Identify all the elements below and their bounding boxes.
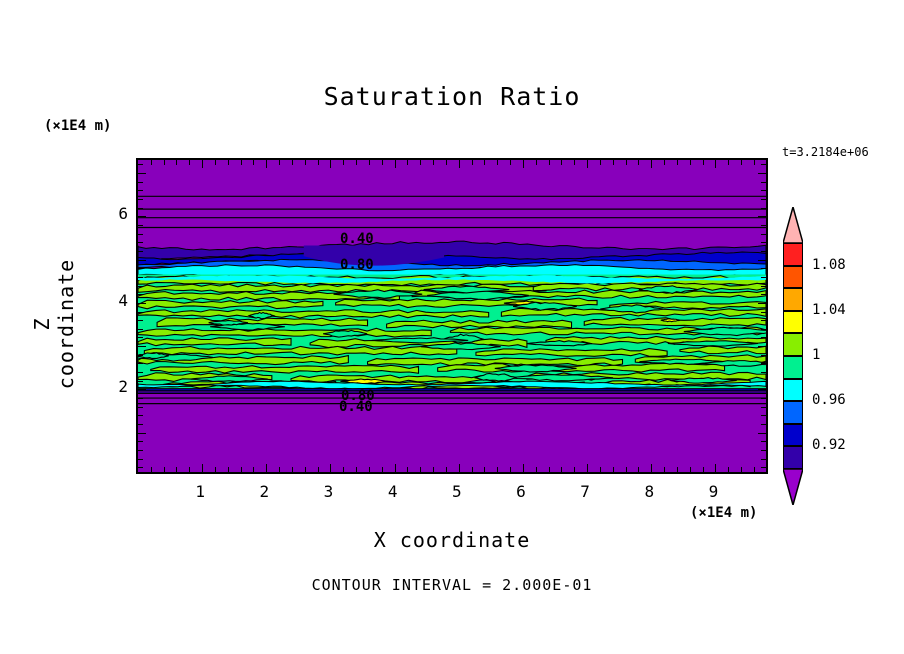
contour-line-label: 0.40 [340,231,374,247]
x-tick-mark [703,467,704,473]
x-tick-mark [523,159,524,168]
y-tick-mark [758,173,767,174]
y-tick-mark [761,467,767,468]
y-tick-mark [137,216,146,217]
contour-line-label: 0.40 [339,399,373,415]
x-tick-mark [176,467,177,473]
colorbar-band[interactable] [783,379,803,402]
x-tick-mark [754,159,755,165]
y-tick-mark [758,260,767,261]
colorbar-band[interactable] [783,311,803,334]
x-tick-mark [164,467,165,473]
x-tick-mark [215,159,216,165]
y-tick-mark [761,381,767,382]
y-tick-mark [137,208,143,209]
y-tick-mark [137,346,146,347]
x-tick-mark [664,467,665,473]
y-tick-mark [758,389,767,390]
x-tick-mark [536,467,537,473]
x-tick-mark [690,467,691,473]
y-tick-mark [761,294,767,295]
x-tick-mark [356,467,357,473]
x-tick-mark [266,464,267,473]
y-tick-mark [137,199,143,200]
x-tick-mark [420,467,421,473]
y-tick-mark [137,164,143,165]
x-tick-mark [677,159,678,165]
x-tick-mark [587,159,588,168]
x-tick-label: 2 [244,482,284,501]
x-tick-mark [318,467,319,473]
x-tick-mark [626,159,627,165]
x-tick-mark [741,159,742,165]
colorbar-tick-label: 0.92 [812,437,846,453]
x-axis-unit-label: (×1E4 m) [690,505,757,521]
y-tick-mark [137,268,143,269]
y-tick-mark [137,320,143,321]
x-tick-mark [343,467,344,473]
y-tick-mark [137,424,143,425]
x-tick-mark [484,467,485,473]
x-tick-mark [754,467,755,473]
x-tick-mark [690,159,691,165]
y-tick-mark [137,467,143,468]
y-tick-mark [761,337,767,338]
y-tick-mark [761,208,767,209]
y-tick-mark [761,329,767,330]
x-tick-mark [292,467,293,473]
y-tick-mark [137,372,143,373]
x-tick-mark [407,159,408,165]
y-tick-mark [761,372,767,373]
x-tick-mark [407,467,408,473]
y-tick-mark [761,199,767,200]
y-tick-mark [137,242,143,243]
x-tick-mark [189,159,190,165]
x-tick-mark [728,467,729,473]
y-tick-mark [761,355,767,356]
x-tick-mark [600,467,601,473]
x-tick-mark [510,467,511,473]
x-tick-mark [638,159,639,165]
x-tick-mark [330,464,331,473]
x-tick-mark [189,467,190,473]
x-tick-mark [472,467,473,473]
x-tick-mark [343,159,344,165]
y-tick-mark [137,234,143,235]
x-tick-mark [151,467,152,473]
colorbar-band[interactable] [783,288,803,311]
x-tick-mark [549,159,550,165]
y-tick-mark [758,303,767,304]
y-tick-mark [137,303,146,304]
x-tick-mark [613,159,614,165]
x-tick-mark [356,159,357,165]
x-tick-mark [228,467,229,473]
colorbar-top-arrow [783,207,803,243]
y-tick-mark [137,450,143,451]
contour-line-label: 0.80 [340,257,374,273]
y-tick-mark [758,433,767,434]
y-tick-mark [137,407,143,408]
x-tick-mark [395,464,396,473]
x-tick-mark [420,159,421,165]
y-tick-label: 6 [88,204,128,223]
x-tick-mark [266,159,267,168]
y-tick-mark [137,381,143,382]
x-tick-mark [446,159,447,165]
x-tick-mark [767,467,768,473]
y-tick-mark [137,225,143,226]
y-tick-mark [761,164,767,165]
y-tick-mark [761,312,767,313]
y-tick-mark [761,234,767,235]
x-tick-mark [253,159,254,165]
x-tick-mark [395,159,396,168]
x-tick-mark [305,467,306,473]
x-tick-mark [151,159,152,165]
y-tick-mark [137,355,143,356]
x-tick-label: 8 [629,482,669,501]
x-axis-label: X coordinate [136,528,768,552]
colorbar-band[interactable] [783,333,803,356]
y-tick-mark [761,242,767,243]
y-tick-mark [137,294,143,295]
x-tick-mark [202,159,203,168]
y-tick-mark [137,459,143,460]
y-tick-mark [761,415,767,416]
x-tick-mark [369,467,370,473]
y-tick-mark [761,182,767,183]
x-tick-mark [741,467,742,473]
x-tick-mark [561,159,562,165]
x-tick-mark [459,159,460,168]
y-tick-mark [761,251,767,252]
x-tick-mark [279,159,280,165]
x-tick-mark [510,159,511,165]
timestamp-annotation: t=3.2184e+06 [782,145,869,159]
y-tick-mark [137,190,143,191]
y-axis-unit-label: (×1E4 m) [44,118,111,134]
y-tick-mark [758,346,767,347]
y-tick-mark [761,363,767,364]
x-tick-mark [241,159,242,165]
x-tick-mark [382,467,383,473]
colorbar-tick-label: 1.08 [812,257,846,273]
colorbar-band[interactable] [783,356,803,379]
y-tick-label: 4 [88,291,128,310]
y-tick-mark [137,329,143,330]
y-tick-mark [137,398,143,399]
x-tick-label: 3 [308,482,348,501]
y-tick-mark [137,415,143,416]
x-tick-mark [433,467,434,473]
x-tick-mark [626,467,627,473]
contour-interval-caption: CONTOUR INTERVAL = 2.000E-01 [0,576,904,594]
x-tick-mark [330,159,331,168]
y-tick-mark [761,277,767,278]
x-tick-mark [446,467,447,473]
y-tick-mark [137,433,146,434]
y-tick-mark [758,216,767,217]
y-axis-label: Z coordinate [30,254,78,394]
x-tick-mark [176,159,177,165]
x-tick-mark [677,467,678,473]
y-tick-mark [137,277,143,278]
colorbar-band[interactable] [783,446,803,469]
x-tick-mark [459,464,460,473]
y-tick-mark [761,320,767,321]
y-tick-mark [761,398,767,399]
y-tick-mark [761,407,767,408]
x-tick-mark [728,159,729,165]
y-tick-mark [137,182,143,183]
x-tick-label: 7 [565,482,605,501]
x-tick-label: 5 [437,482,477,501]
x-tick-mark [292,159,293,165]
y-tick-mark [761,441,767,442]
x-tick-mark [523,464,524,473]
y-tick-mark [761,190,767,191]
x-tick-mark [497,159,498,165]
x-tick-mark [651,464,652,473]
x-tick-mark [164,159,165,165]
x-tick-mark [549,467,550,473]
x-tick-mark [561,467,562,473]
x-tick-label: 4 [373,482,413,501]
y-tick-mark [761,459,767,460]
colorbar-tick-label: 0.96 [812,392,846,408]
x-tick-mark [767,159,768,165]
x-tick-mark [305,159,306,165]
colorbar-band[interactable] [783,401,803,424]
colorbar-band[interactable] [783,424,803,447]
x-tick-mark [600,159,601,165]
y-tick-mark [137,286,143,287]
x-tick-mark [587,464,588,473]
colorbar-bottom-arrow [783,469,803,505]
x-tick-mark [241,467,242,473]
page-title: Saturation Ratio [0,82,904,111]
x-tick-label: 9 [693,482,733,501]
y-tick-mark [137,260,146,261]
y-tick-mark [761,225,767,226]
colorbar-tick-label: 1 [812,347,820,363]
x-tick-mark [613,467,614,473]
contour-plot[interactable] [136,158,768,474]
x-tick-mark [497,467,498,473]
contour-field [138,160,766,472]
x-tick-mark [638,467,639,473]
x-tick-mark [369,159,370,165]
x-tick-mark [703,159,704,165]
x-tick-mark [202,464,203,473]
y-tick-mark [137,441,143,442]
x-tick-mark [715,159,716,168]
x-tick-mark [715,464,716,473]
x-tick-mark [574,159,575,165]
y-tick-mark [137,363,143,364]
colorbar-band[interactable] [783,243,803,266]
x-tick-label: 1 [180,482,220,501]
x-tick-mark [433,159,434,165]
x-tick-mark [484,159,485,165]
colorbar-tick-label: 1.04 [812,302,846,318]
x-tick-mark [253,467,254,473]
x-tick-mark [318,159,319,165]
x-tick-mark [664,159,665,165]
y-tick-mark [137,173,146,174]
y-tick-mark [137,337,143,338]
x-tick-mark [279,467,280,473]
y-tick-mark [761,286,767,287]
x-tick-label: 6 [501,482,541,501]
y-tick-mark [137,312,143,313]
y-tick-mark [761,268,767,269]
x-tick-mark [382,159,383,165]
y-tick-mark [761,450,767,451]
colorbar-band[interactable] [783,266,803,289]
x-tick-mark [472,159,473,165]
x-tick-mark [574,467,575,473]
x-tick-mark [215,467,216,473]
colorbar[interactable]: 1.081.0410.960.92 [780,207,806,507]
x-tick-mark [536,159,537,165]
y-tick-mark [137,389,146,390]
x-tick-mark [228,159,229,165]
x-tick-mark [651,159,652,168]
y-tick-label: 2 [88,377,128,396]
y-tick-mark [137,251,143,252]
y-tick-mark [761,424,767,425]
